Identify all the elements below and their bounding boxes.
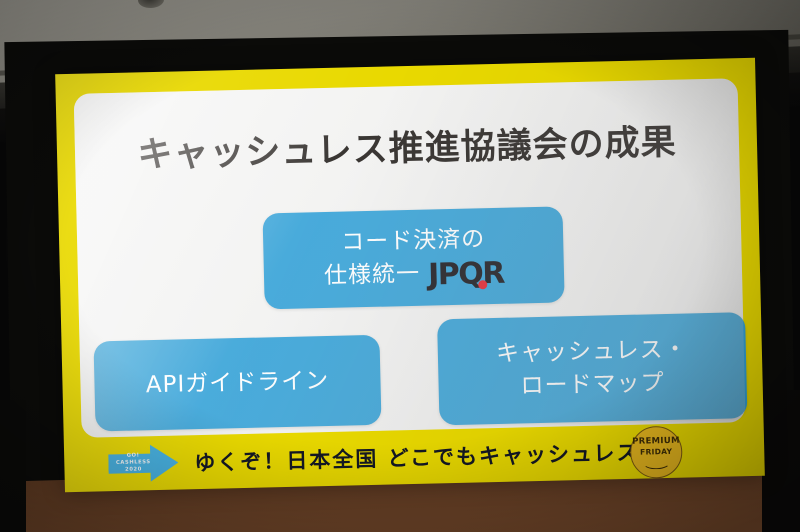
footer-tagline: ゆくぞ！日本全国 どこでもキャッシュレス [194,437,635,477]
photo-scene: キャッシュレス推進協議会の成果 コード決済の 仕様統一 JPQR APIガイドラ… [0,0,800,532]
premium-friday-line1: PREMIUM [632,437,680,447]
premium-friday-line2: FRIDAY [640,447,672,455]
box-code-payment-spec: コード決済の 仕様統一 JPQR [263,206,565,309]
slide-content-card: キャッシュレス推進協議会の成果 コード決済の 仕様統一 JPQR APIガイドラ… [74,78,746,438]
box-code-payment-spec-line2-row: 仕様統一 JPQR [324,256,504,293]
box-code-payment-spec-line1: コード決済の [323,223,503,260]
jpqr-logo: JPQR [428,259,504,291]
presentation-slide: キャッシュレス推進協議会の成果 コード決済の 仕様統一 JPQR APIガイドラ… [55,58,765,492]
box-api-guideline: APIガイドライン [93,335,381,432]
page-title: キャッシュレス推進協議会の成果 [74,112,739,179]
box-cashless-roadmap-line2: ロードマップ [497,366,689,403]
arrow-text-line3: 2020 [112,466,154,474]
go-cashless-arrow-icon: GO! CASHLESS 2020 [108,443,179,485]
box-cashless-roadmap-line1: キャッシュレス・ [496,334,688,371]
go-cashless-arrow-text: GO! CASHLESS 2020 [112,452,154,474]
box-api-guideline-content: APIガイドライン [135,364,339,401]
jpqr-logo-text: JPQR [428,256,505,293]
jpqr-red-dot-icon [478,281,487,290]
box-code-payment-spec-line2: 仕様統一 [324,258,421,293]
left-dark-edge [0,400,26,532]
box-cashless-roadmap-content: キャッシュレス・ ロードマップ [486,334,699,404]
premium-friday-badge: PREMIUM FRIDAY [630,426,683,479]
smile-arc-icon [642,457,670,470]
box-code-payment-spec-content: コード決済の 仕様統一 JPQR [313,223,514,293]
box-cashless-roadmap: キャッシュレス・ ロードマップ [437,312,747,425]
box-api-guideline-line1: APIガイドライン [145,365,329,402]
right-dark-edge [762,390,800,532]
